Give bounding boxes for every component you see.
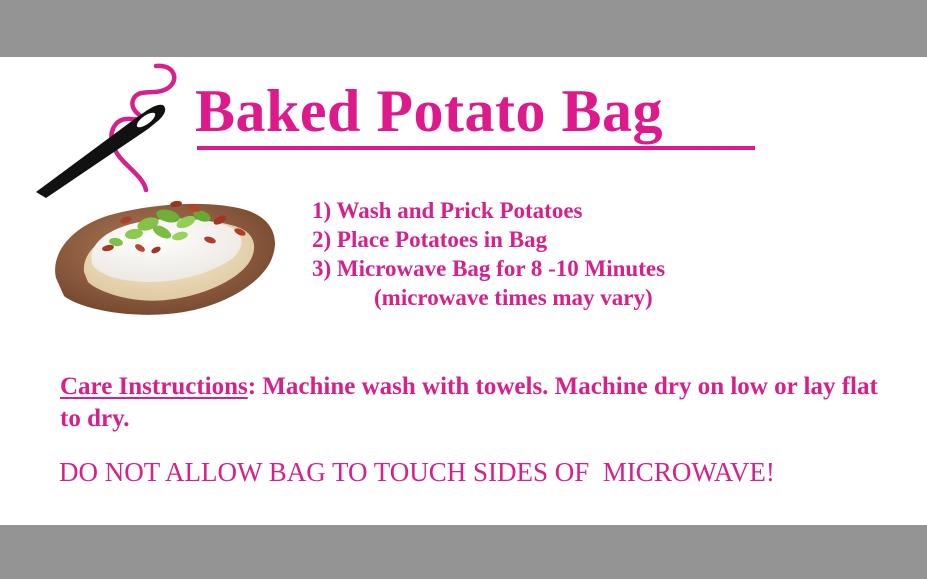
step-1: 1) Wash and Prick Potatoes [312, 196, 665, 225]
step-2: 2) Place Potatoes in Bag [312, 225, 665, 254]
needle-and-thread-logo [28, 58, 193, 198]
care-instructions: Care Instructions: Machine wash with tow… [60, 371, 890, 435]
step-note: (microwave times may vary) [312, 283, 665, 312]
baked-potato-bag-care-card: Baked Potato Bag [0, 0, 927, 579]
care-instructions-label: Care Instructions [60, 373, 248, 400]
title-underline-rule [197, 146, 755, 150]
instruction-steps-list: 1) Wash and Prick Potatoes 2) Place Pota… [312, 196, 665, 312]
microwave-warning-text: DO NOT ALLOW BAG TO TOUCH SIDES OF MICRO… [59, 456, 775, 488]
bottom-gray-letterbox-bar [0, 525, 927, 579]
page-title: Baked Potato Bag [195, 78, 663, 144]
step-3: 3) Microwave Bag for 8 -10 Minutes [312, 254, 665, 283]
baked-potato-photo [44, 186, 284, 326]
top-gray-letterbox-bar [0, 0, 927, 57]
